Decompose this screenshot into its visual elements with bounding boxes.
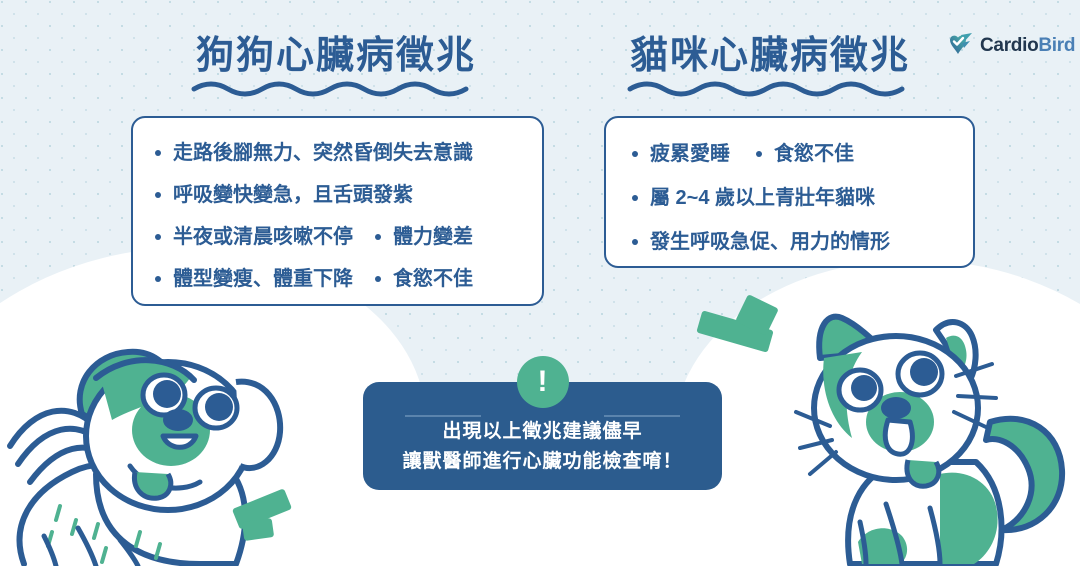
dog-title-wavy-underline bbox=[190, 80, 490, 102]
heart-check-bird-icon bbox=[948, 32, 974, 58]
list-item-label: 食慾不佳 bbox=[774, 144, 854, 164]
list-item: 體型變瘦、體重下降 bbox=[155, 269, 353, 289]
list-item-label: 體型變瘦、體重下降 bbox=[173, 269, 353, 289]
banner-divider-left bbox=[405, 415, 481, 417]
list-item-label: 體力變差 bbox=[393, 227, 473, 247]
bullet-icon bbox=[632, 151, 638, 157]
cat-illustration bbox=[790, 292, 1080, 566]
list-item: 食慾不佳 bbox=[375, 269, 473, 289]
advice-line-2: 讓獸醫師進行心臟功能檢查唷！ bbox=[402, 447, 682, 476]
list-row: 疲累愛睡 食慾不佳 bbox=[606, 132, 973, 176]
bullet-icon bbox=[155, 150, 161, 156]
list-item-label: 食慾不佳 bbox=[393, 269, 473, 289]
list-item-label: 疲累愛睡 bbox=[650, 144, 730, 164]
advice-banner: ! 出現以上徵兆建議儘早 讓獸醫師進行心臟功能檢查唷！ bbox=[363, 382, 722, 490]
list-item: 半夜或清晨咳嗽不停 bbox=[155, 227, 353, 247]
list-item: 疲累愛睡 bbox=[632, 144, 730, 164]
list-item: 體力變差 bbox=[375, 227, 473, 247]
list-item: 發生呼吸急促、用力的情形 bbox=[632, 232, 890, 252]
brand-name: CardioBird bbox=[980, 36, 1075, 55]
list-item: 呼吸變快變急，且舌頭發紫 bbox=[155, 185, 413, 205]
bullet-icon bbox=[756, 151, 762, 157]
infographic-canvas: 狗狗心臟病徵兆 貓咪心臟病徵兆 CardioBird 走路後腳無力、突然昏倒失 bbox=[0, 0, 1080, 566]
dog-section-title: 狗狗心臟病徵兆 bbox=[196, 24, 476, 79]
list-item: 食慾不佳 bbox=[756, 144, 854, 164]
list-row: 體型變瘦、體重下降 食慾不佳 bbox=[133, 258, 542, 300]
cat-title-wavy-underline bbox=[626, 80, 918, 102]
brand-name-part1: Cardio bbox=[980, 35, 1038, 56]
advice-line-1: 出現以上徵兆建議儘早 bbox=[442, 417, 642, 446]
bullet-icon bbox=[155, 276, 161, 282]
exclamation-badge-icon: ! bbox=[517, 356, 569, 408]
bullet-icon bbox=[375, 234, 381, 240]
list-item-label: 走路後腳無力、突然昏倒失去意識 bbox=[173, 143, 473, 163]
cat-symptom-list: 疲累愛睡 食慾不佳 屬 2~4 歲以上青壯年貓咪 發生呼吸急促、用力的情形 bbox=[606, 118, 973, 264]
bullet-icon bbox=[155, 192, 161, 198]
banner-divider-right bbox=[604, 415, 680, 417]
dog-symptoms-card: 走路後腳無力、突然昏倒失去意識 呼吸變快變急，且舌頭發紫 半夜或清晨咳嗽不停 體… bbox=[131, 116, 544, 306]
list-item-label: 發生呼吸急促、用力的情形 bbox=[650, 232, 890, 252]
list-row: 屬 2~4 歲以上青壯年貓咪 bbox=[606, 176, 973, 220]
bullet-icon bbox=[632, 195, 638, 201]
list-row: 走路後腳無力、突然昏倒失去意識 bbox=[133, 132, 542, 174]
cat-section-title: 貓咪心臟病徵兆 bbox=[630, 24, 910, 79]
list-item-label: 呼吸變快變急，且舌頭發紫 bbox=[173, 185, 413, 205]
list-row: 半夜或清晨咳嗽不停 體力變差 bbox=[133, 216, 542, 258]
brand-logo[interactable]: CardioBird bbox=[948, 32, 1075, 58]
brand-name-part2: Bird bbox=[1038, 35, 1075, 56]
bullet-icon bbox=[155, 234, 161, 240]
dog-symptom-list: 走路後腳無力、突然昏倒失去意識 呼吸變快變急，且舌頭發紫 半夜或清晨咳嗽不停 體… bbox=[133, 118, 542, 300]
bullet-icon bbox=[375, 276, 381, 282]
list-item-label: 屬 2~4 歲以上青壯年貓咪 bbox=[650, 188, 875, 208]
list-row: 發生呼吸急促、用力的情形 bbox=[606, 220, 973, 264]
bullet-icon bbox=[632, 239, 638, 245]
cat-symptoms-card: 疲累愛睡 食慾不佳 屬 2~4 歲以上青壯年貓咪 發生呼吸急促、用力的情形 bbox=[604, 116, 975, 268]
list-item-label: 半夜或清晨咳嗽不停 bbox=[173, 227, 353, 247]
list-item: 屬 2~4 歲以上青壯年貓咪 bbox=[632, 188, 875, 208]
list-row: 呼吸變快變急，且舌頭發紫 bbox=[133, 174, 542, 216]
dog-illustration bbox=[0, 296, 340, 566]
list-item: 走路後腳無力、突然昏倒失去意識 bbox=[155, 143, 473, 163]
